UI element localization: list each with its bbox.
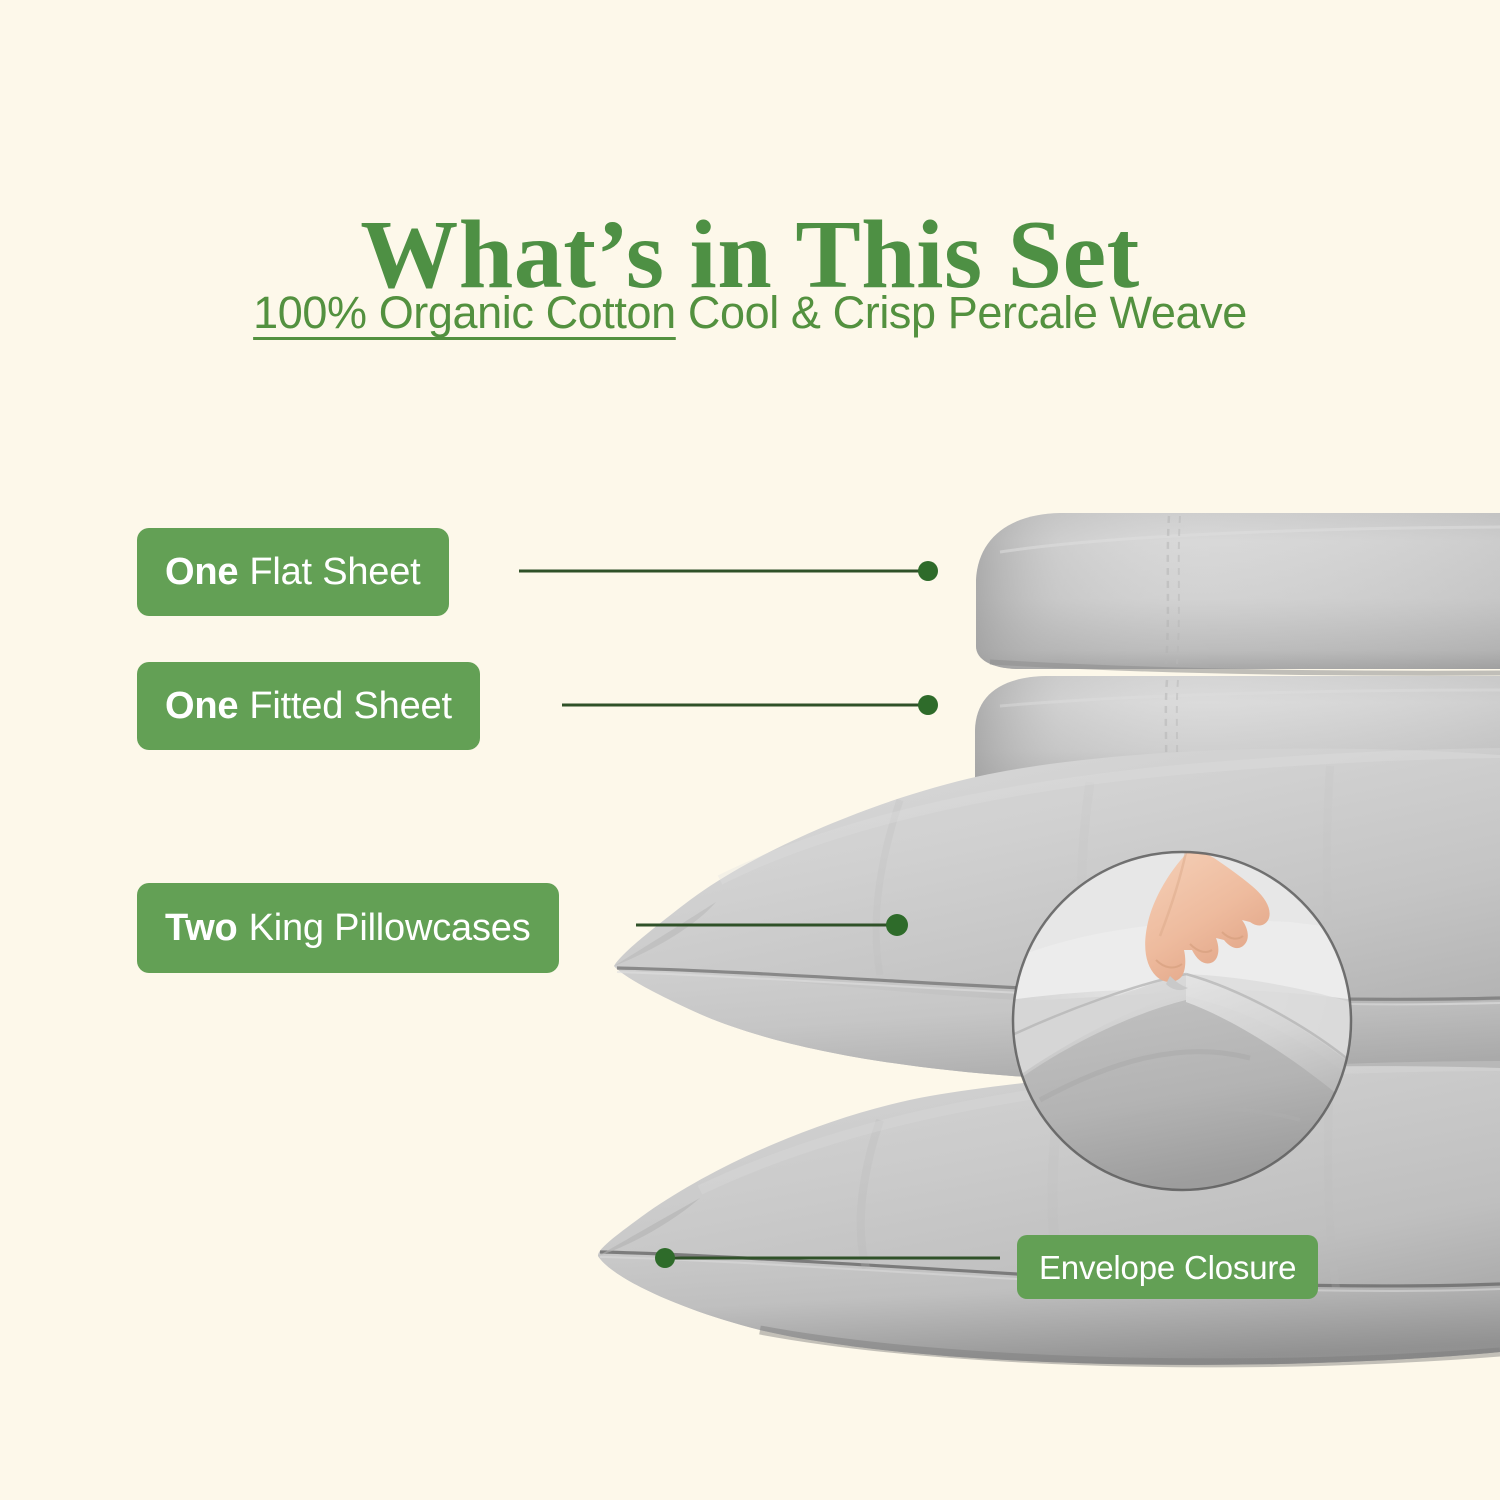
callout-label: Fitted Sheet xyxy=(249,687,452,725)
infographic-canvas: What’s in This Set 100% Organic Cotton C… xyxy=(0,0,1500,1500)
callout-quantity: One xyxy=(165,553,238,591)
feature-badge-envelope-closure[interactable]: Envelope Closure xyxy=(1017,1235,1318,1299)
callout-label: Flat Sheet xyxy=(249,553,420,591)
callout-badge-king-pillowcases[interactable]: Two King Pillowcases xyxy=(137,883,559,973)
feature-badge-label: Envelope Closure xyxy=(1039,1251,1296,1284)
page-subtitle: 100% Organic Cotton Cool & Crisp Percale… xyxy=(0,288,1500,338)
subtitle-rest: Cool & Crisp Percale Weave xyxy=(676,287,1247,338)
callout-label: King Pillowcases xyxy=(249,909,531,947)
callout-quantity: Two xyxy=(165,909,238,947)
callout-badge-flat-sheet[interactable]: One Flat Sheet xyxy=(137,528,449,616)
callout-quantity: One xyxy=(165,687,238,725)
subtitle-emphasis: 100% Organic Cotton xyxy=(253,287,676,338)
callout-badge-fitted-sheet[interactable]: One Fitted Sheet xyxy=(137,662,480,750)
